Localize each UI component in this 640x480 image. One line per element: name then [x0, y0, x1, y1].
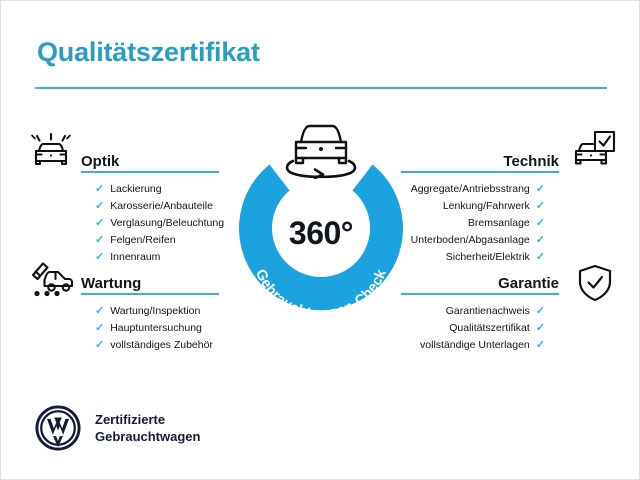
list-item-label: Hauptuntersuchung	[110, 320, 202, 337]
section-wartung-items: ✓Wartung/Inspektion ✓Hauptuntersuchung ✓…	[81, 303, 219, 354]
check-icon: ✓	[95, 337, 104, 354]
section-wartung-title: Wartung	[81, 275, 141, 292]
section-garantie-divider	[401, 293, 559, 295]
check-icon: ✓	[536, 249, 545, 266]
vw-logo	[35, 405, 81, 451]
list-item-label: Qualitätszertifikat	[449, 320, 530, 337]
check-icon: ✓	[95, 181, 104, 198]
section-optik-divider	[81, 171, 219, 173]
footer-brand-text: Zertifizierte Gebrauchtwagen	[95, 411, 200, 445]
title-divider	[35, 87, 607, 89]
section-garantie-title: Garantie	[498, 275, 559, 292]
car-front-shine-icon	[29, 129, 73, 169]
section-technik-header: Technik	[401, 147, 559, 173]
car-wrench-service-icon	[29, 259, 73, 299]
section-optik-title: Optik	[81, 153, 119, 170]
section-optik: Optik ✓Lackierung ✓Karosserie/Anbauteile…	[81, 147, 219, 266]
list-item-label: Wartung/Inspektion	[110, 303, 200, 320]
list-item: ✓vollständiges Zubehör	[95, 337, 219, 354]
list-item: Aggregate/Antriebsstrang✓	[401, 181, 545, 198]
list-item: Bremsanlage✓	[401, 215, 545, 232]
list-item: ✓Hauptuntersuchung	[95, 320, 219, 337]
list-item: Unterboden/Abgasanlage✓	[401, 232, 545, 249]
section-wartung-divider	[81, 293, 219, 295]
check-icon: ✓	[536, 320, 545, 337]
check-icon: ✓	[95, 198, 104, 215]
list-item: ✓Karosserie/Anbauteile	[95, 198, 219, 215]
section-technik-title: Technik	[503, 153, 559, 170]
list-item-label: Felgen/Reifen	[110, 232, 175, 249]
certificate-page: Qualitätszertifikat Optik ✓Lackierung ✓K…	[0, 0, 640, 480]
list-item-label: Verglasung/Beleuchtung	[110, 215, 224, 232]
shield-check-icon	[575, 263, 619, 303]
check-icon: ✓	[536, 337, 545, 354]
section-optik-header: Optik	[81, 147, 219, 173]
check-icon: ✓	[536, 232, 545, 249]
check-icon: ✓	[536, 303, 545, 320]
section-garantie-items: Garantienachweis✓ Qualitätszertifikat✓ v…	[401, 303, 559, 354]
list-item: ✓Wartung/Inspektion	[95, 303, 219, 320]
list-item-label: Bremsanlage	[468, 215, 530, 232]
list-item-label: Lackierung	[110, 181, 161, 198]
section-technik: Technik Aggregate/Antriebsstrang✓ Lenkun…	[401, 147, 559, 266]
check-icon: ✓	[536, 181, 545, 198]
check-icon: ✓	[95, 215, 104, 232]
list-item: ✓Lackierung	[95, 181, 219, 198]
list-item-label: Karosserie/Anbauteile	[110, 198, 213, 215]
car-rotate-360-icon	[281, 117, 361, 179]
list-item-label: Innenraum	[110, 249, 160, 266]
list-item: Sicherheit/Elektrik✓	[401, 249, 545, 266]
footer-line-1: Zertifizierte	[95, 411, 200, 428]
check-icon: ✓	[95, 232, 104, 249]
list-item-label: Unterboden/Abgasanlage	[411, 232, 530, 249]
section-wartung-header: Wartung	[81, 269, 219, 295]
list-item: Garantienachweis✓	[401, 303, 545, 320]
check-icon: ✓	[536, 215, 545, 232]
badge-360-gebrauchtwagen-check: Gebrauchtwagen-Check 360°	[229, 137, 413, 321]
list-item-label: Lenkung/Fahrwerk	[443, 198, 530, 215]
list-item-label: Aggregate/Antriebsstrang	[411, 181, 530, 198]
list-item: ✓Felgen/Reifen	[95, 232, 219, 249]
section-technik-divider	[401, 171, 559, 173]
page-title: Qualitätszertifikat	[37, 37, 260, 68]
check-icon: ✓	[536, 198, 545, 215]
section-optik-items: ✓Lackierung ✓Karosserie/Anbauteile ✓Verg…	[81, 181, 219, 266]
footer-line-2: Gebrauchtwagen	[95, 428, 200, 445]
check-icon: ✓	[95, 320, 104, 337]
section-wartung: Wartung ✓Wartung/Inspektion ✓Hauptunters…	[81, 269, 219, 354]
footer-brand: Zertifizierte Gebrauchtwagen	[35, 405, 200, 451]
list-item-label: vollständiges Zubehör	[110, 337, 213, 354]
list-item-label: Garantienachweis	[446, 303, 530, 320]
list-item: Lenkung/Fahrwerk✓	[401, 198, 545, 215]
list-item: Qualitätszertifikat✓	[401, 320, 545, 337]
list-item: ✓Verglasung/Beleuchtung	[95, 215, 219, 232]
car-checkbox-icon	[571, 129, 615, 169]
section-technik-items: Aggregate/Antriebsstrang✓ Lenkung/Fahrwe…	[401, 181, 559, 266]
badge-degrees: 360°	[229, 215, 413, 252]
list-item-label: vollständige Unterlagen	[420, 337, 530, 354]
check-icon: ✓	[95, 249, 104, 266]
list-item: ✓Innenraum	[95, 249, 219, 266]
section-garantie-header: Garantie	[401, 269, 559, 295]
section-garantie: Garantie Garantienachweis✓ Qualitätszert…	[401, 269, 559, 354]
list-item-label: Sicherheit/Elektrik	[446, 249, 530, 266]
check-icon: ✓	[95, 303, 104, 320]
list-item: vollständige Unterlagen✓	[401, 337, 545, 354]
